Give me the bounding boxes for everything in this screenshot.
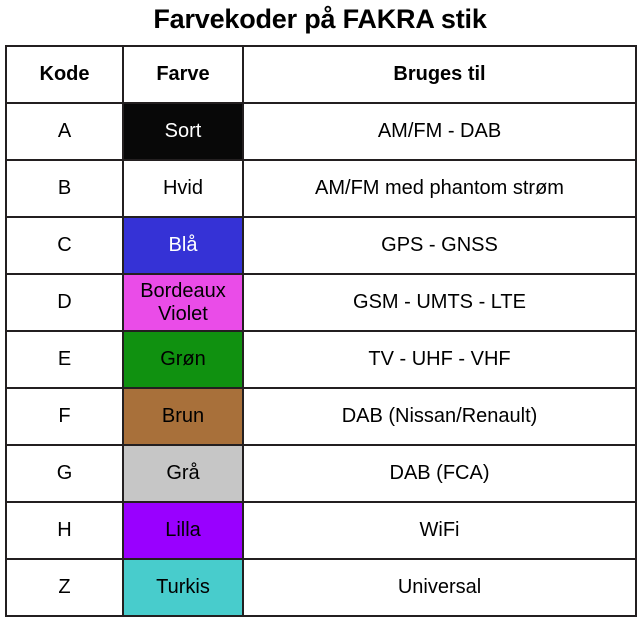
color-swatch: Brun (124, 389, 242, 444)
cell-kode: Z (6, 559, 123, 616)
color-name: Grå (166, 462, 199, 485)
table-row: CBlåGPS - GNSS (6, 217, 636, 274)
fakra-color-codes-table: Kode Farve Bruges til ASortAM/FM - DABBH… (5, 45, 637, 617)
table-header-row: Kode Farve Bruges til (6, 46, 636, 103)
color-swatch: Sort (124, 104, 242, 159)
cell-bruges-til: GSM - UMTS - LTE (243, 274, 636, 331)
color-name: Grøn (160, 348, 206, 371)
cell-farve: Hvid (123, 160, 243, 217)
color-swatch: Grå (124, 446, 242, 501)
color-name: Turkis (156, 576, 210, 599)
cell-farve: Blå (123, 217, 243, 274)
cell-farve: BordeauxViolet (123, 274, 243, 331)
color-name: Sort (165, 120, 202, 143)
cell-kode: E (6, 331, 123, 388)
color-swatch: Lilla (124, 503, 242, 558)
table-row: GGråDAB (FCA) (6, 445, 636, 502)
page-title: Farvekoder på FAKRA stik (0, 2, 640, 36)
color-name: Brun (162, 405, 204, 428)
cell-bruges-til: AM/FM - DAB (243, 103, 636, 160)
page-root: Farvekoder på FAKRA stik Kode Farve Brug… (0, 0, 640, 623)
color-name-line-1: Bordeaux (140, 280, 226, 302)
table-row: FBrunDAB (Nissan/Renault) (6, 388, 636, 445)
color-name: Lilla (165, 519, 201, 542)
cell-kode: H (6, 502, 123, 559)
cell-bruges-til: Universal (243, 559, 636, 616)
cell-kode: D (6, 274, 123, 331)
table-row: BHvidAM/FM med phantom strøm (6, 160, 636, 217)
cell-farve: Brun (123, 388, 243, 445)
column-header-farve: Farve (123, 46, 243, 103)
cell-bruges-til: DAB (Nissan/Renault) (243, 388, 636, 445)
cell-farve: Turkis (123, 559, 243, 616)
color-name-wrap: BordeauxViolet (140, 280, 226, 326)
color-swatch: Blå (124, 218, 242, 273)
cell-bruges-til: WiFi (243, 502, 636, 559)
column-header-kode: Kode (6, 46, 123, 103)
color-name: Hvid (163, 177, 203, 200)
cell-farve: Grå (123, 445, 243, 502)
cell-kode: G (6, 445, 123, 502)
cell-bruges-til: DAB (FCA) (243, 445, 636, 502)
table-body: ASortAM/FM - DABBHvidAM/FM med phantom s… (6, 103, 636, 616)
table-row: ASortAM/FM - DAB (6, 103, 636, 160)
color-swatch: BordeauxViolet (124, 275, 242, 330)
cell-bruges-til: GPS - GNSS (243, 217, 636, 274)
table-header: Kode Farve Bruges til (6, 46, 636, 103)
cell-kode: C (6, 217, 123, 274)
cell-kode: B (6, 160, 123, 217)
table-row: EGrønTV - UHF - VHF (6, 331, 636, 388)
cell-farve: Lilla (123, 502, 243, 559)
color-swatch: Turkis (124, 560, 242, 615)
column-header-bruges-til: Bruges til (243, 46, 636, 103)
color-swatch: Grøn (124, 332, 242, 387)
color-name-line-2: Violet (158, 303, 208, 325)
cell-kode: A (6, 103, 123, 160)
cell-farve: Sort (123, 103, 243, 160)
cell-bruges-til: TV - UHF - VHF (243, 331, 636, 388)
color-name: Blå (169, 234, 198, 257)
cell-kode: F (6, 388, 123, 445)
table-row: ZTurkisUniversal (6, 559, 636, 616)
color-swatch: Hvid (124, 161, 242, 216)
cell-bruges-til: AM/FM med phantom strøm (243, 160, 636, 217)
table-row: HLillaWiFi (6, 502, 636, 559)
table-row: DBordeauxVioletGSM - UMTS - LTE (6, 274, 636, 331)
cell-farve: Grøn (123, 331, 243, 388)
